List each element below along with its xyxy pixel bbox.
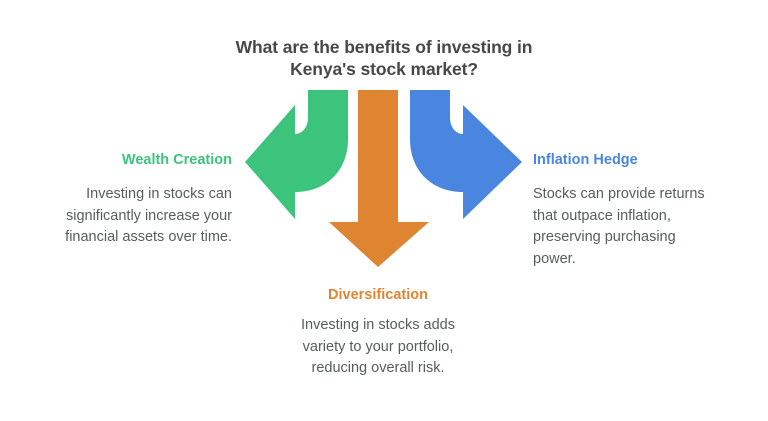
curved-arrow-right-icon [410, 90, 522, 219]
branch-body-line: power. [533, 249, 755, 271]
branch-body-wealth-creation: Investing in stocks can significantly in… [0, 184, 232, 249]
branch-body-inflation-hedge: Stocks can provide returns that outpace … [533, 184, 755, 270]
branch-body-line: reducing overall risk. [255, 358, 501, 380]
branch-label-wealth-creation: Wealth Creation [0, 151, 232, 169]
branch-body-line: Stocks can provide returns [533, 184, 755, 206]
diagram-canvas: What are the benefits of investing in Ke… [0, 0, 768, 421]
branch-body-line: financial assets over time. [0, 227, 232, 249]
branch-body-line: preserving purchasing [533, 227, 755, 249]
branch-label-inflation-hedge: Inflation Hedge [533, 151, 761, 169]
branch-body-diversification: Investing in stocks adds variety to your… [255, 315, 501, 380]
branch-body-line: variety to your portfolio, [255, 337, 501, 359]
branch-body-line: Investing in stocks can [0, 184, 232, 206]
curved-arrow-left-icon [245, 90, 348, 219]
branch-body-line: that outpace inflation, [533, 206, 755, 228]
branch-body-line: significantly increase your [0, 206, 232, 228]
branch-body-line: Investing in stocks adds [255, 315, 501, 337]
branch-label-diversification: Diversification [258, 286, 498, 304]
